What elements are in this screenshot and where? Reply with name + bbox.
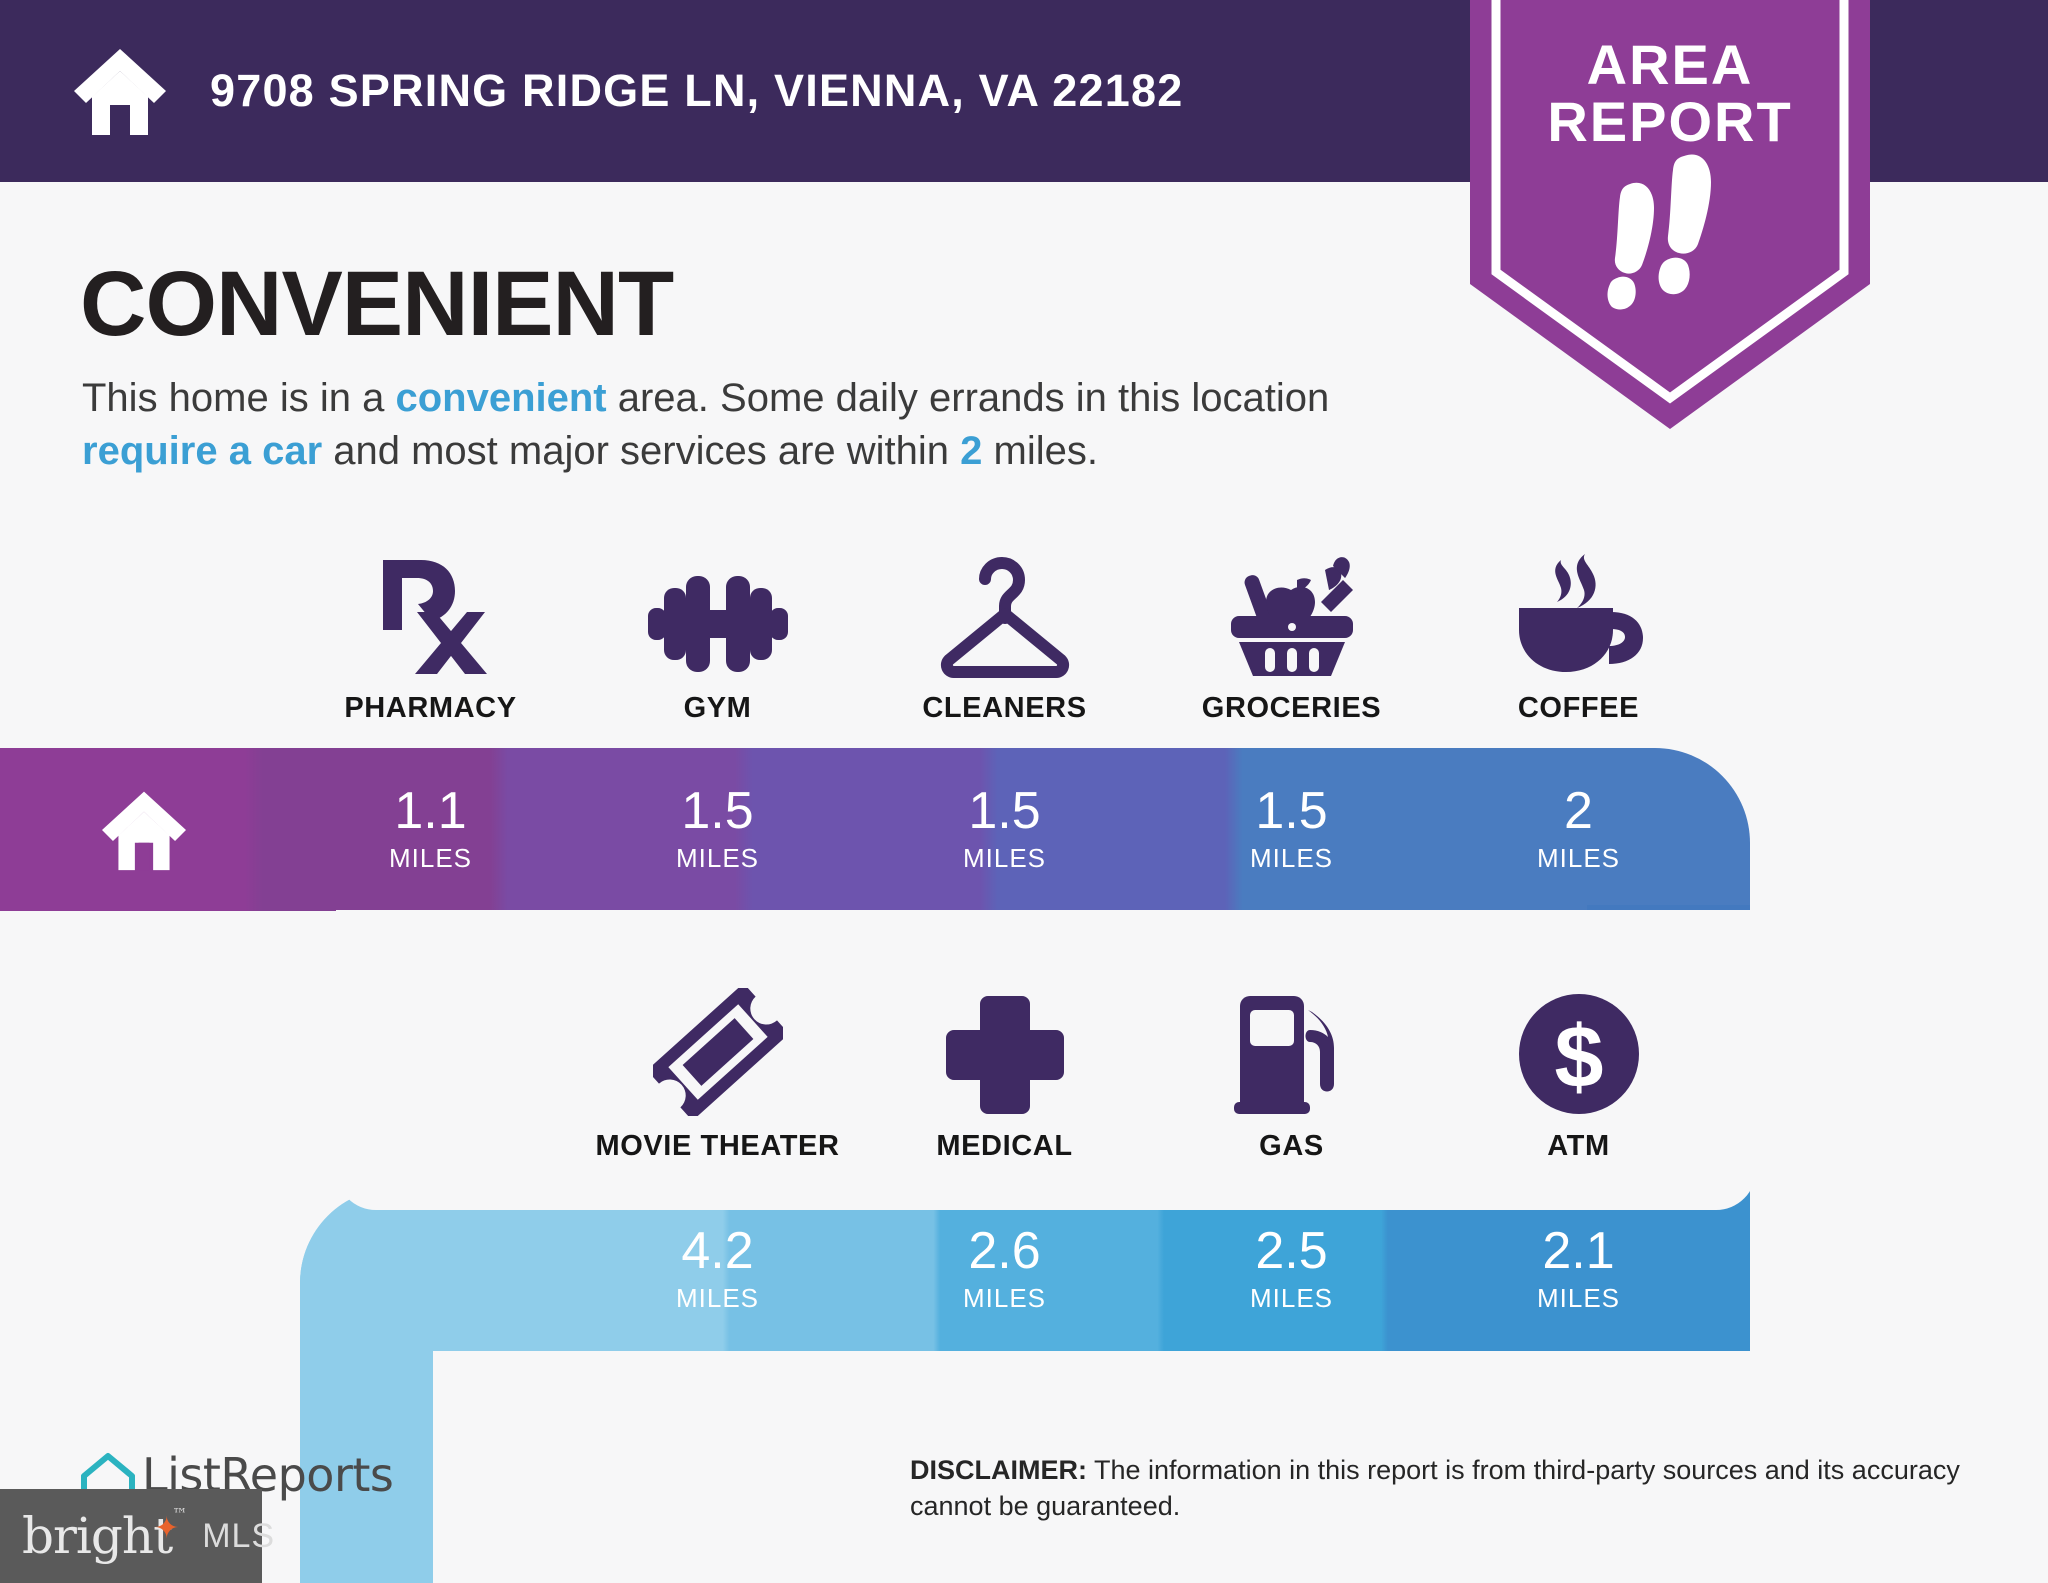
amenity-pharmacy: PHARMACY: [287, 552, 574, 725]
amenity-label: CLEANERS: [922, 692, 1086, 725]
bright-text: bright: [22, 1507, 172, 1565]
distance-value: 1.5: [968, 785, 1040, 837]
ribbon-turn-right: [1722, 748, 2009, 911]
ribbon-end: [1722, 1188, 2009, 1351]
amenity-cleaners: CLEANERS: [861, 552, 1148, 725]
distance-unit: MILES: [676, 843, 759, 874]
bright-mls-badge: bright✦™ MLS: [0, 1489, 262, 1583]
amenity-groceries: GROCERIES: [1148, 552, 1435, 725]
amenity-icon-row-1: PHARMACY GYM: [0, 552, 2048, 725]
distance-tile-cleaners: 1.5 MILES: [861, 748, 1148, 911]
distance-unit: MILES: [1250, 1283, 1333, 1314]
distance-row-2: 4.2 MILES 2.6 MILES 2.5 MILES 2.1 MILES: [0, 1188, 2048, 1351]
icon-cell-spacer: [287, 990, 574, 1163]
distance-value: 2: [1564, 785, 1593, 837]
amenity-label: COFFEE: [1518, 692, 1639, 725]
amenity-label: GROCERIES: [1202, 692, 1381, 725]
distance-unit: MILES: [1537, 843, 1620, 874]
basket-icon: [1229, 552, 1355, 678]
distance-tile-medical: 2.6 MILES: [861, 1188, 1148, 1351]
distance-tile-gym: 1.5 MILES: [574, 748, 861, 911]
amenity-gym: GYM: [574, 552, 861, 725]
dollar-icon: $: [1517, 990, 1641, 1116]
ticket-icon: [653, 990, 783, 1116]
amenity-label: GAS: [1259, 1130, 1324, 1163]
distance-tile-groceries: 1.5 MILES: [1148, 748, 1435, 911]
disclaimer: DISCLAIMER: The information in this repo…: [910, 1452, 1980, 1525]
disclaimer-label: DISCLAIMER:: [910, 1455, 1087, 1485]
area-report-badge: AREA REPORT: [1470, 0, 1870, 429]
amenity-icon-row-2: MOVIE THEATER MEDICAL GAS: [0, 990, 2048, 1163]
distance-row-1: 1.1 MILES 1.5 MILES 1.5 MILES 1.5 MILES …: [0, 748, 2048, 911]
trademark-mark: ™: [172, 1505, 186, 1523]
distance-value: 4.2: [681, 1225, 753, 1277]
amenity-movie-theater: MOVIE THEATER: [574, 990, 861, 1163]
dumbbell-icon: [648, 552, 788, 678]
distance-unit: MILES: [1537, 1283, 1620, 1314]
distance-unit: MILES: [676, 1283, 759, 1314]
cross-icon: [944, 990, 1066, 1116]
amenity-coffee: COFFEE: [1435, 552, 1722, 725]
distance-tile-coffee: 2 MILES: [1435, 748, 1722, 911]
icon-cell-spacer: [0, 990, 287, 1163]
distance-unit: MILES: [963, 843, 1046, 874]
distance-tile-movie-theater: 4.2 MILES: [574, 1188, 861, 1351]
amenity-label: MOVIE THEATER: [595, 1130, 839, 1163]
distance-tile-pharmacy: 1.1 MILES: [287, 748, 574, 911]
distance-tile-atm: 2.1 MILES: [1435, 1188, 1722, 1351]
rx-icon: [373, 552, 489, 678]
amenity-medical: MEDICAL: [861, 990, 1148, 1163]
ribbon-turn-left: [287, 1188, 574, 1351]
amenity-label: ATM: [1547, 1130, 1609, 1163]
ribbon-turn-left-spacer: [0, 1188, 287, 1351]
gaspump-icon: [1234, 990, 1350, 1116]
amenity-atm: $ ATM: [1435, 990, 1722, 1163]
amenity-label: GYM: [684, 692, 752, 725]
distance-unit: MILES: [1250, 843, 1333, 874]
hanger-icon: [939, 552, 1071, 678]
distance-value: 2.5: [1255, 1225, 1327, 1277]
distance-value: 2.1: [1542, 1225, 1614, 1277]
amenity-gas: GAS: [1148, 990, 1435, 1163]
icon-cell-spacer: [0, 552, 287, 725]
distance-tile-gas: 2.5 MILES: [1148, 1188, 1435, 1351]
mls-text: MLS: [202, 1517, 275, 1556]
distance-value: 1.5: [681, 785, 753, 837]
distance-unit: MILES: [389, 843, 472, 874]
home-tile: [0, 748, 287, 911]
distance-value: 2.6: [968, 1225, 1040, 1277]
distance-value: 1.5: [1255, 785, 1327, 837]
distance-value: 1.1: [394, 785, 466, 837]
coffee-icon: [1515, 552, 1643, 678]
distance-unit: MILES: [963, 1283, 1046, 1314]
bright-wordmark: bright✦™: [22, 1507, 172, 1565]
svg-text:$: $: [1554, 1007, 1603, 1106]
amenity-label: PHARMACY: [344, 692, 516, 725]
amenity-label: MEDICAL: [936, 1130, 1072, 1163]
